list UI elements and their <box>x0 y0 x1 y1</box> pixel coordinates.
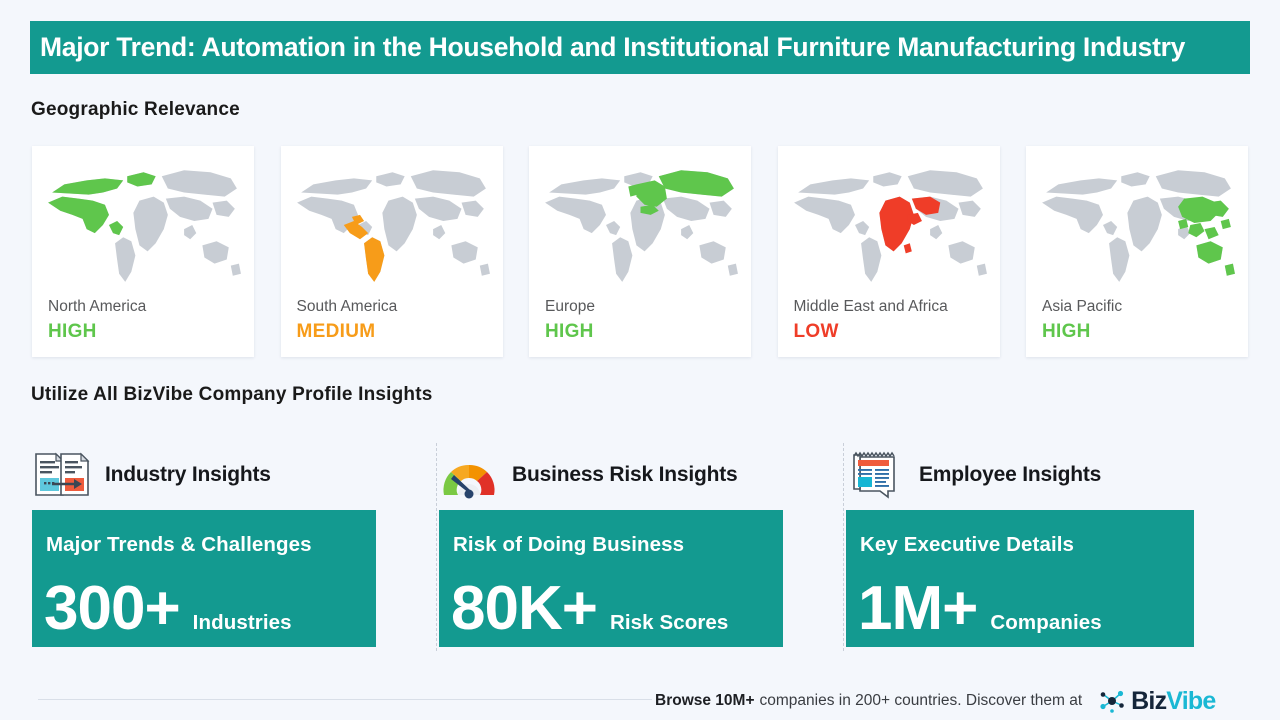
stat-unit-employee: Companies <box>990 611 1101 635</box>
footer-divider <box>38 699 652 700</box>
world-map-europe <box>539 154 742 294</box>
stat-label-employee: Key Executive Details <box>860 533 1074 557</box>
bizvibe-wordmark: BizVibe <box>1131 687 1215 716</box>
risk-gauge-icon <box>439 449 499 501</box>
footer-description: companies in 200+ countries. Discover th… <box>760 692 1083 710</box>
insight-column-employee: Employee Insights Key Executive Details … <box>843 443 1250 651</box>
stat-value-row-employee: 1M+ Companies <box>858 580 1102 639</box>
logo-word-vibe: Vibe <box>1166 687 1215 715</box>
geo-relevance-level: HIGH <box>48 321 97 343</box>
insight-header-employee: Employee Insights <box>844 443 1250 507</box>
geo-region-name: North America <box>48 298 146 316</box>
footer-browse-count: Browse 10M+ <box>655 692 755 710</box>
insight-column-industry: Industry Insights Major Trends & Challen… <box>30 443 436 651</box>
insight-column-risk: Business Risk Insights Risk of Doing Bus… <box>436 443 843 651</box>
stat-unit-risk: Risk Scores <box>610 611 728 635</box>
documents-transfer-icon <box>32 449 92 501</box>
geo-region-name: Middle East and Africa <box>794 298 948 316</box>
geo-card-middle-east-and-africa[interactable]: Middle East and Africa LOW <box>778 146 1000 357</box>
title-banner: Major Trend: Automation in the Household… <box>30 21 1250 74</box>
stat-value-row-industry: 300+ Industries <box>44 580 292 639</box>
insight-header-risk: Business Risk Insights <box>437 443 843 507</box>
infographic-page: Major Trend: Automation in the Household… <box>0 0 1280 720</box>
stat-value-industry: 300+ <box>44 580 180 639</box>
insights-columns: Industry Insights Major Trends & Challen… <box>30 443 1250 651</box>
stat-unit-industry: Industries <box>193 611 292 635</box>
stat-box-employee: Key Executive Details 1M+ Companies <box>846 510 1194 647</box>
newspaper-speech-icon <box>846 449 906 501</box>
geo-region-name: South America <box>297 298 398 316</box>
geo-relevance-level: LOW <box>794 321 839 343</box>
geo-card-north-america[interactable]: North America HIGH <box>32 146 254 357</box>
stat-value-row-risk: 80K+ Risk Scores <box>451 580 728 639</box>
stat-value-employee: 1M+ <box>858 580 977 639</box>
geographic-relevance-heading: Geographic Relevance <box>31 99 240 121</box>
insights-heading: Utilize All BizVibe Company Profile Insi… <box>31 384 433 406</box>
geo-relevance-level: HIGH <box>1042 321 1091 343</box>
geo-region-name: Europe <box>545 298 595 316</box>
insight-title-industry: Industry Insights <box>105 463 271 487</box>
stat-box-industry: Major Trends & Challenges 300+ Industrie… <box>32 510 376 647</box>
geo-relevance-level: HIGH <box>545 321 594 343</box>
world-map-middle-east-africa <box>788 154 991 294</box>
logo-word-biz: Biz <box>1131 687 1166 715</box>
world-map-asia-pacific <box>1036 154 1239 294</box>
geo-card-south-america[interactable]: South America MEDIUM <box>281 146 503 357</box>
stat-label-industry: Major Trends & Challenges <box>46 533 312 557</box>
geo-relevance-level: MEDIUM <box>297 321 376 343</box>
insight-header-industry: Industry Insights <box>30 443 436 507</box>
stat-label-risk: Risk of Doing Business <box>453 533 684 557</box>
geo-card-europe[interactable]: Europe HIGH <box>529 146 751 357</box>
insight-title-risk: Business Risk Insights <box>512 463 738 487</box>
footer: Browse 10M+ companies in 200+ countries.… <box>655 686 1215 716</box>
stat-value-risk: 80K+ <box>451 580 597 639</box>
world-map-north-america <box>42 154 245 294</box>
bizvibe-logo[interactable]: BizVibe <box>1098 687 1215 716</box>
geo-card-asia-pacific[interactable]: Asia Pacific HIGH <box>1026 146 1248 357</box>
insight-title-employee: Employee Insights <box>919 463 1101 487</box>
geo-region-name: Asia Pacific <box>1042 298 1122 316</box>
page-title: Major Trend: Automation in the Household… <box>30 32 1185 63</box>
world-map-south-america <box>291 154 494 294</box>
geographic-cards: North America HIGH <box>32 146 1248 357</box>
network-nodes-icon <box>1098 688 1128 714</box>
stat-box-risk: Risk of Doing Business 80K+ Risk Scores <box>439 510 783 647</box>
